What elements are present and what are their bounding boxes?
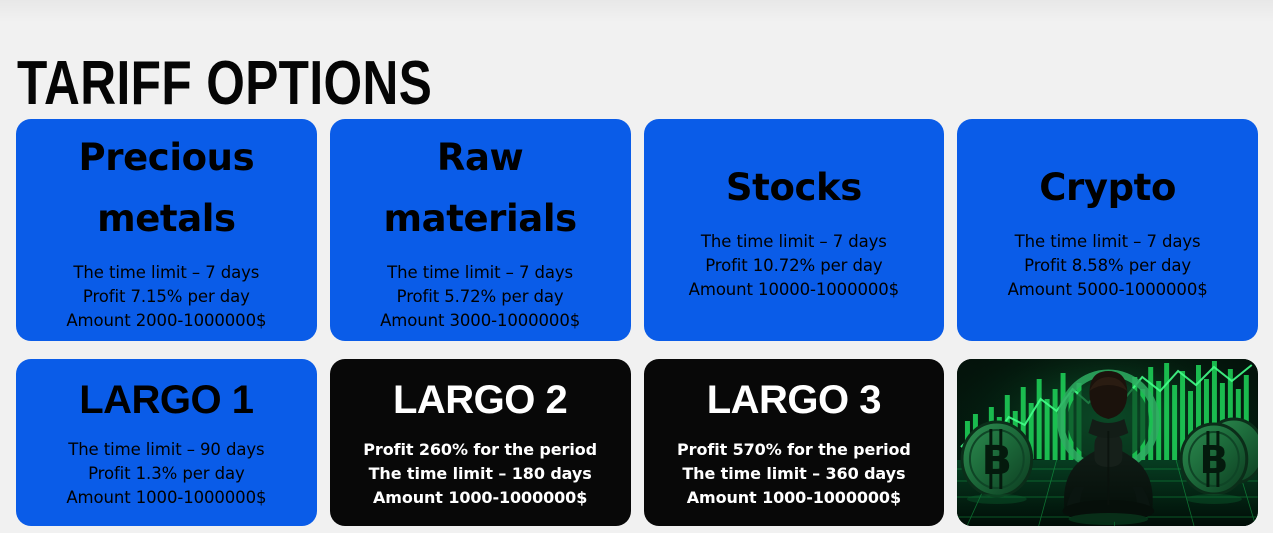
card-details: The time limit – 90 days Profit 1.3% per… [66, 438, 266, 510]
card-details: The time limit – 7 days Profit 5.72% per… [380, 261, 580, 333]
card-detail-line: The time limit – 7 days [689, 230, 899, 254]
tariff-card-largo-3[interactable]: LARGO 3 Profit 570% for the period The t… [644, 359, 945, 526]
card-detail-line: The time limit – 7 days [380, 261, 580, 285]
promo-image-card: B B [957, 359, 1258, 526]
svg-text:B: B [1200, 438, 1229, 482]
card-title: Crypto [1039, 158, 1176, 218]
card-details: The time limit – 7 days Profit 8.58% per… [1008, 230, 1208, 302]
card-detail-line: Profit 5.72% per day [380, 285, 580, 309]
tariff-card-stocks[interactable]: Stocks The time limit – 7 days Profit 10… [644, 119, 945, 341]
card-detail-line: Profit 1.3% per day [66, 462, 266, 486]
tariff-card-largo-1[interactable]: LARGO 1 The time limit – 90 days Profit … [16, 359, 317, 526]
card-detail-line: The time limit – 180 days [363, 462, 597, 486]
card-detail-line: Amount 1000-1000000$ [66, 486, 266, 510]
tariff-options-page: TARIFF OPTIONS Precious metals The time … [0, 0, 1273, 533]
card-details: Profit 260% for the period The time limi… [363, 438, 597, 510]
card-detail-line: Profit 8.58% per day [1008, 254, 1208, 278]
card-details: The time limit – 7 days Profit 10.72% pe… [689, 230, 899, 302]
crypto-meditation-illustration: B B [957, 359, 1258, 526]
card-detail-line: The time limit – 7 days [1008, 230, 1208, 254]
card-detail-line: Profit 260% for the period [363, 438, 597, 462]
tariff-cards-grid: Precious metals The time limit – 7 days … [16, 119, 1258, 526]
tariff-card-raw-materials[interactable]: Raw materials The time limit – 7 days Pr… [330, 119, 631, 341]
card-title: LARGO 3 [707, 376, 881, 424]
tariff-card-precious-metals[interactable]: Precious metals The time limit – 7 days … [16, 119, 317, 341]
card-detail-line: Profit 570% for the period [677, 438, 911, 462]
card-detail-line: The time limit – 7 days [66, 261, 266, 285]
card-detail-line: Amount 1000-1000000$ [363, 486, 597, 510]
bitcoin-coin-right: B [1181, 424, 1247, 494]
card-title: LARGO 2 [393, 376, 567, 424]
card-details: The time limit – 7 days Profit 7.15% per… [66, 261, 266, 333]
page-title: TARIFF OPTIONS [17, 46, 432, 122]
svg-text:B: B [982, 438, 1012, 484]
card-details: Profit 570% for the period The time limi… [677, 438, 911, 510]
card-detail-line: The time limit – 90 days [66, 438, 266, 462]
card-detail-line: The time limit – 360 days [677, 462, 911, 486]
card-detail-line: Amount 2000-1000000$ [66, 309, 266, 333]
card-detail-line: Profit 7.15% per day [66, 285, 266, 309]
card-detail-line: Amount 3000-1000000$ [380, 309, 580, 333]
card-detail-line: Profit 10.72% per day [689, 254, 899, 278]
tariff-card-crypto[interactable]: Crypto The time limit – 7 days Profit 8.… [957, 119, 1258, 341]
tariff-card-largo-2[interactable]: LARGO 2 Profit 260% for the period The t… [330, 359, 631, 526]
card-title: Stocks [726, 158, 862, 218]
card-title: Precious metals [79, 127, 255, 249]
card-detail-line: Amount 1000-1000000$ [677, 486, 911, 510]
card-title: LARGO 1 [79, 376, 253, 424]
card-detail-line: Amount 10000-1000000$ [689, 278, 899, 302]
card-title: Raw materials [383, 127, 576, 249]
bitcoin-coin-left: B [962, 422, 1032, 496]
card-detail-line: Amount 5000-1000000$ [1008, 278, 1208, 302]
